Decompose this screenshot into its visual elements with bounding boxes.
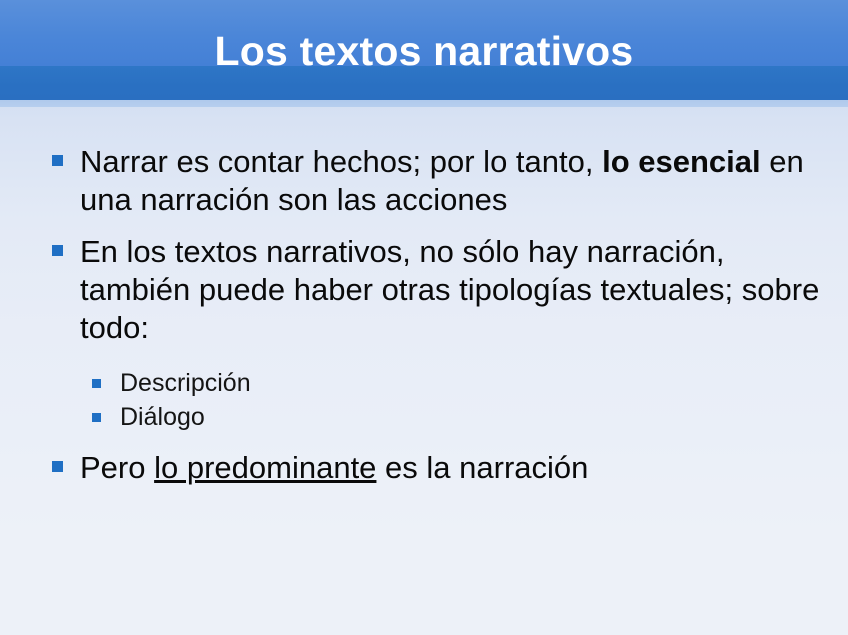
bullet-item-2: En los textos narrativos, no sólo hay na… <box>44 233 824 347</box>
bullet-item-2-text: En los textos narrativos, no sólo hay na… <box>80 233 824 347</box>
bullet-list: Narrar es contar hechos; por lo tanto, l… <box>44 143 824 493</box>
bullet-item-5: Pero lo predominante es la narración <box>44 449 824 487</box>
bullet-item-3-text: Descripción <box>120 367 824 399</box>
slide-title: Los textos narrativos <box>0 27 848 75</box>
square-bullet-icon <box>92 413 101 422</box>
spacer <box>44 225 824 233</box>
bullet-item-3: Descripción <box>44 367 824 399</box>
bullet-item-4-text: Diálogo <box>120 401 824 433</box>
slide-header: Los textos narrativos <box>0 0 848 107</box>
spacer <box>44 353 824 367</box>
square-bullet-icon <box>52 461 63 472</box>
slide-content: Narrar es contar hechos; por lo tanto, l… <box>0 107 848 635</box>
header-underline-strip <box>0 100 848 107</box>
square-bullet-icon <box>92 379 101 388</box>
bullet-item-1-text: Narrar es contar hechos; por lo tanto, l… <box>80 143 824 219</box>
square-bullet-icon <box>52 155 63 166</box>
bullet-item-1: Narrar es contar hechos; por lo tanto, l… <box>44 143 824 219</box>
bullet-item-5-text: Pero lo predominante es la narración <box>80 449 824 487</box>
square-bullet-icon <box>52 245 63 256</box>
bullet-item-4: Diálogo <box>44 401 824 433</box>
spacer <box>44 435 824 449</box>
slide: Los textos narrativos Narrar es contar h… <box>0 0 848 635</box>
